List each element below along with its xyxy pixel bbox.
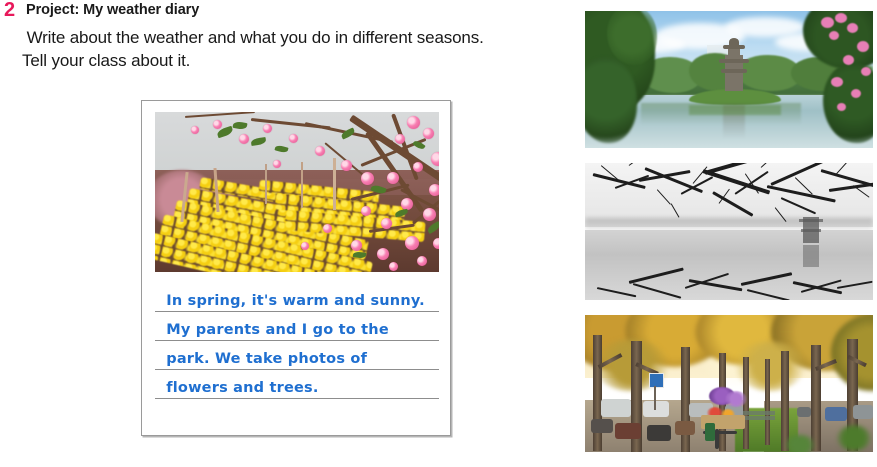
exercise-header: 2 Project: My weather diary Write about … [0,0,580,72]
handwriting-line: My parents and I go to the [155,316,439,345]
writing-rule [155,311,439,312]
exercise-instruction: Write about the weather and what you do … [0,27,580,72]
exercise-number: 2 [0,0,26,20]
season-photo-strip [585,11,873,467]
handwriting-line: In spring, it's warm and sunny. [155,287,439,316]
writing-rule [155,340,439,341]
season-photo-winter [585,163,873,300]
exercise-title-row: 2 Project: My weather diary [0,0,580,20]
diary-card: In spring, it's warm and sunny. My paren… [141,100,451,436]
page-title: Project: My weather diary [26,0,199,20]
handwriting-text: My parents and I go to the [161,322,389,338]
diary-handwriting[interactable]: In spring, it's warm and sunny. My paren… [155,287,439,403]
season-photo-summer [585,11,873,148]
handwriting-text: In spring, it's warm and sunny. [161,293,425,309]
instruction-line-2: Tell your class about it. [22,50,580,73]
handwriting-text: park. We take photos of [161,351,367,367]
season-photo-autumn [585,315,873,452]
handwriting-line: flowers and trees. [155,374,439,403]
instruction-line-1: Write about the weather and what you do … [22,27,580,50]
writing-rule [155,398,439,399]
handwriting-line: park. We take photos of [155,345,439,374]
writing-rule [155,369,439,370]
handwriting-text: flowers and trees. [161,380,319,396]
diary-photo-spring [155,112,439,272]
